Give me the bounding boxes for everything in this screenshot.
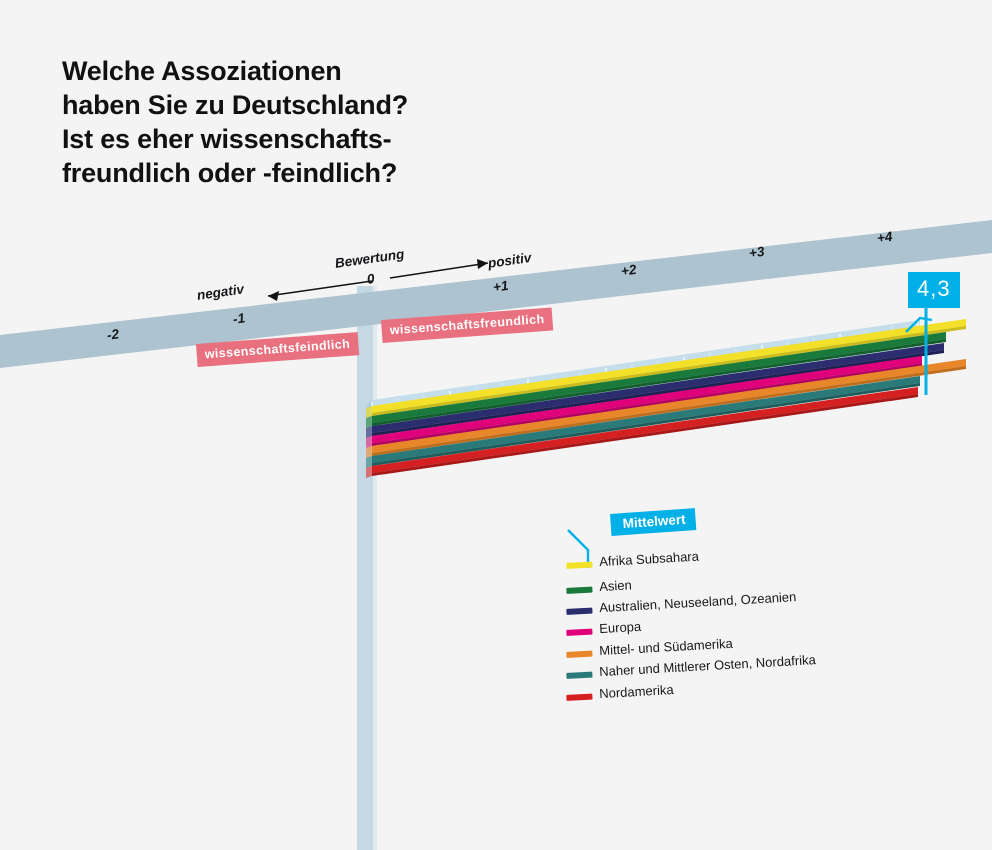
page-title: Welche Assoziationen haben Sie zu Deutsc… xyxy=(62,54,582,190)
legend-label-nordamerika: Nordamerika xyxy=(599,682,674,701)
infographic-canvas: Welche Assoziationen haben Sie zu Deutsc… xyxy=(0,0,992,850)
legend-swatch-asien xyxy=(566,587,592,594)
legend-item-europa[interactable]: Europa xyxy=(566,625,567,643)
mean-value-callout: 4,3 xyxy=(908,272,960,308)
legend-item-naher-und-mittlerer-osten-nordafrika[interactable]: Naher und Mittlerer Osten, Nordafrika xyxy=(566,668,567,686)
title-line-2: haben Sie zu Deutschland? xyxy=(62,88,582,122)
bar-left-caps xyxy=(366,406,372,478)
legend-label-europa: Europa xyxy=(599,619,642,636)
legend-item-australien-neuseeland-ozeanien[interactable]: Australien, Neuseeland, Ozeanien xyxy=(566,604,567,622)
legend-label-australien-neuseeland-ozeanien: Australien, Neuseeland, Ozeanien xyxy=(599,589,797,615)
legend-swatch-australien-neuseeland-ozeanien xyxy=(566,608,592,615)
legend-swatch-nordamerika xyxy=(566,694,592,701)
legend-item-asien[interactable]: Asien xyxy=(566,583,567,601)
legend-label-asien: Asien xyxy=(599,577,632,594)
title-line-3: Ist es eher wissenschafts- xyxy=(62,122,582,156)
legend-mittelwert-label: Mittelwert xyxy=(610,508,696,536)
legend-label-mittel-und-suedamerika: Mittel- und Südamerika xyxy=(599,636,733,658)
axis-tick-+4: +4 xyxy=(876,229,893,246)
chart-legend: Mittelwert Afrika Subsahara Asien Austra… xyxy=(566,512,966,702)
legend-item-nordamerika[interactable]: Nordamerika xyxy=(566,690,567,708)
mean-value-label: 4,3 xyxy=(908,272,960,308)
legend-swatch-mittel-und-suedamerika xyxy=(566,651,592,658)
legend-swatch-europa xyxy=(566,629,592,636)
title-line-1: Welche Assoziationen xyxy=(62,54,582,88)
bar-chart-plot xyxy=(0,250,992,480)
legend-item-mittel-und-suedamerika[interactable]: Mittel- und Südamerika xyxy=(566,647,567,665)
legend-swatch-naher-und-mittlerer-osten-nordafrika xyxy=(566,672,592,679)
